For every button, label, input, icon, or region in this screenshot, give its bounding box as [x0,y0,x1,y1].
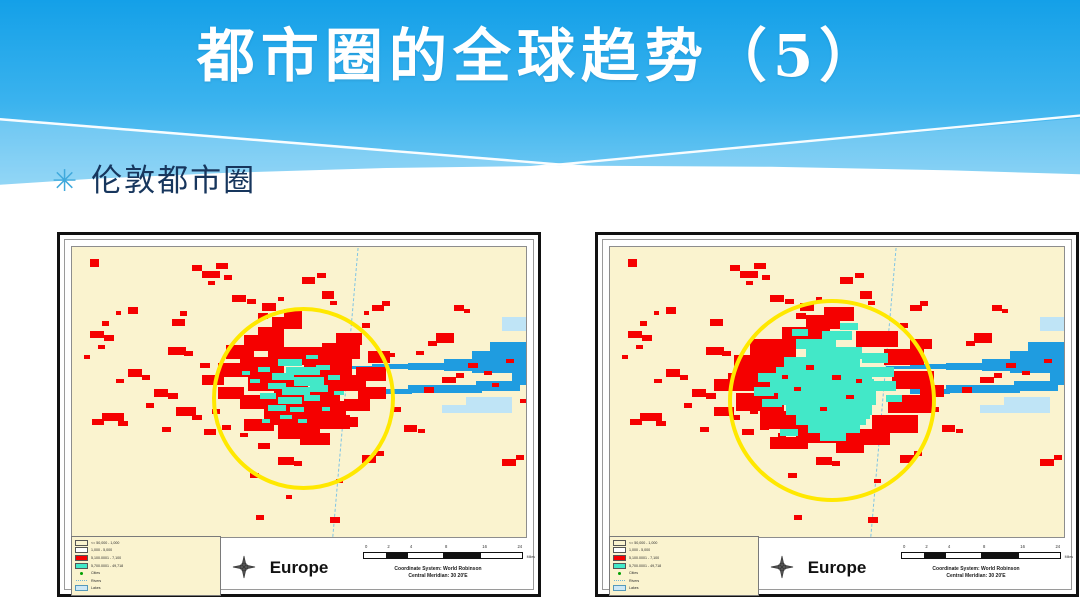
legend-label: <= 50,000 - 1,000 [629,540,657,546]
river-line-icon [75,578,88,584]
legend-label: Rivers [91,578,101,584]
highlight-ring [728,299,936,502]
legend-label: <= 50,000 - 1,000 [91,540,119,546]
map-canvas-right[interactable] [609,246,1065,538]
lake-poly-icon [75,585,88,591]
scale-tick: 4 [410,544,412,549]
scale-tick: 4 [948,544,950,549]
crs-note-right: Coordinate System: World Robinson Centra… [891,566,1061,580]
crs-line-1: Coordinate System: World Robinson [891,566,1061,573]
map-figures: <= 50,000 - 1,000 1,000 - 5,000 5,100.00… [0,232,1080,600]
map-frame-right: <= 50,000 - 1,000 1,000 - 5,000 5,100.00… [602,239,1072,590]
crs-line-2: Central Meridian: 30 20'E [353,573,523,580]
bullet-label: 伦敦都市圈 [91,166,256,197]
scale-tick: 0 [903,544,905,549]
crs-line-1: Coordinate System: World Robinson [353,566,523,573]
highlight-ring [212,307,395,490]
scale-tick: 0 [365,544,367,549]
crs-note-left: Coordinate System: World Robinson Centra… [353,566,523,580]
map-figure-right[interactable]: <= 50,000 - 1,000 1,000 - 5,000 5,100.00… [595,232,1079,597]
map-figure-left[interactable]: <= 50,000 - 1,000 1,000 - 5,000 5,100.00… [57,232,541,597]
legend-label: Lakes [629,585,639,591]
map-chrome-left: <= 50,000 - 1,000 1,000 - 5,000 5,100.00… [71,540,527,598]
crs-line-2: Central Meridian: 30 20'E [891,573,1061,580]
legend-label: Rivers [629,578,639,584]
scale-tick: 2 [387,544,389,549]
river-line-icon [613,578,626,584]
scale-bar-right: 0 2 4 8 16 24 M [901,544,1061,559]
slide: 都市圈的全球趋势（5） ✳ 伦敦都市圈 [0,0,1080,602]
scale-tick: 24 [1055,544,1060,549]
lake-poly-icon [613,585,626,591]
legend-label: Lakes [91,585,101,591]
scale-tick: 16 [482,544,487,549]
map-canvas-left[interactable] [71,246,527,538]
scale-tick: 16 [1020,544,1025,549]
scale-tick: 24 [517,544,522,549]
asterisk-bullet-icon: ✳ [52,167,77,197]
scale-tick: 8 [445,544,447,549]
scale-bar-left: 0 2 4 8 16 24 M [363,544,523,559]
bullet-row: ✳ 伦敦都市圈 [52,166,256,197]
page-title: 都市圈的全球趋势（5） [0,26,1080,87]
legend-label: 1,000 - 5,000 [91,547,112,553]
map-chrome-right: <= 50,000 - 1,000 1,000 - 5,000 5,100.00… [609,540,1065,598]
scale-unit: Miles [527,555,535,559]
scale-unit: Miles [1065,555,1073,559]
map-frame-left: <= 50,000 - 1,000 1,000 - 5,000 5,100.00… [64,239,534,590]
scale-tick: 2 [925,544,927,549]
legend-label: 1,000 - 5,000 [629,547,650,553]
scale-tick: 8 [983,544,985,549]
